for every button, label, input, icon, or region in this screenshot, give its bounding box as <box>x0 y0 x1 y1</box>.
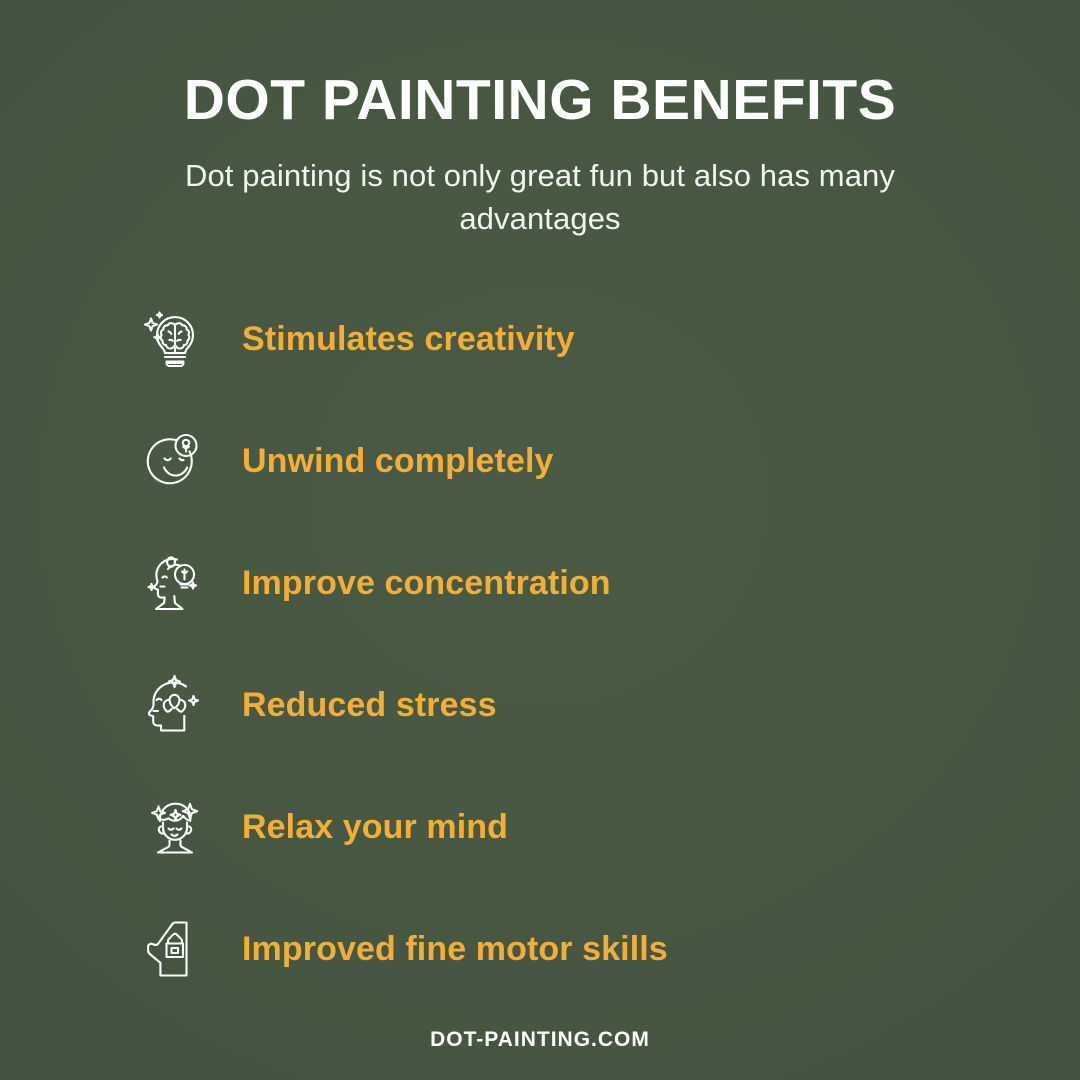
list-item-label: Stimulates creativity <box>242 320 575 359</box>
list-item-label: Relax your mind <box>242 808 508 847</box>
list-item: Relax your mind <box>138 777 508 878</box>
list-item-label: Unwind completely <box>242 442 554 481</box>
list-item: Reduced stress <box>138 655 497 756</box>
head-profile-lightbulb-icon <box>138 546 212 620</box>
calm-face-sparkles-icon <box>138 790 212 864</box>
benefits-list: Stimulates creativity Unwind completely <box>0 289 1080 1021</box>
list-item: Improve concentration <box>138 533 611 634</box>
hand-holding-object-icon <box>138 912 212 986</box>
smiling-face-flower-icon <box>138 424 212 498</box>
website-url: DOT-PAINTING.COM <box>430 1028 650 1051</box>
list-item-label: Improved fine motor skills <box>242 930 668 969</box>
list-item-label: Improve concentration <box>242 564 611 603</box>
poster-footer: DOT-PAINTING.COM <box>0 1028 1080 1052</box>
page-title: DOT PAINTING BENEFITS <box>0 72 1080 129</box>
list-item-label: Reduced stress <box>242 686 497 725</box>
poster-header: DOT PAINTING BENEFITS Dot painting is no… <box>0 0 1080 241</box>
page-subtitle: Dot painting is not only great fun but a… <box>145 155 935 241</box>
brain-lightbulb-icon <box>138 302 212 376</box>
list-item: Unwind completely <box>138 411 554 512</box>
list-item: Stimulates creativity <box>138 289 575 390</box>
infographic-poster: DOT PAINTING BENEFITS Dot painting is no… <box>0 0 1080 1080</box>
list-item: Improved fine motor skills <box>138 899 668 1000</box>
head-lotus-icon <box>138 668 212 742</box>
